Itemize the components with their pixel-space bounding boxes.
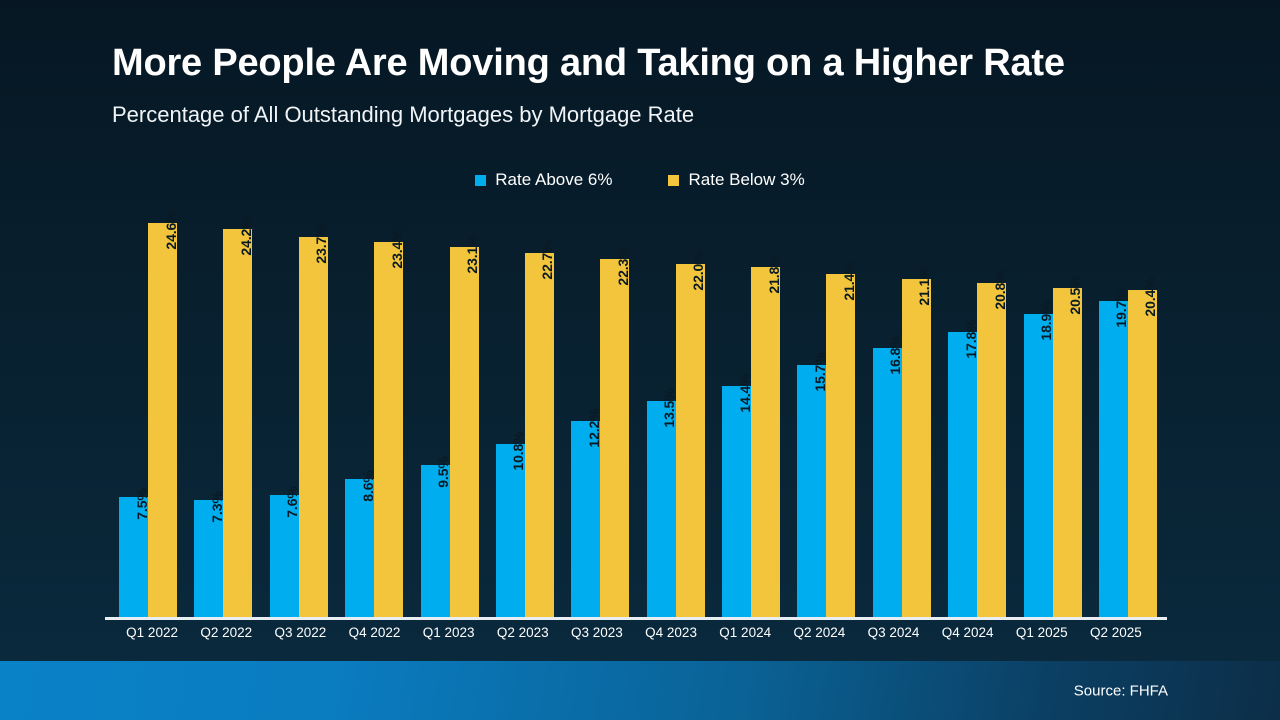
source-attribution: Source: FHFA [1074,682,1168,699]
bar[interactable]: 7.5% [119,497,148,617]
bar-group: 15.7%21.4% [797,200,855,617]
bar-value-label: 21.8% [766,255,782,294]
bar-group: 19.7%20.4% [1099,200,1157,617]
x-axis-tick-label: Q4 2022 [337,625,411,640]
bar[interactable]: 24.6% [148,223,177,618]
bar-value-label: 24.2% [238,216,254,255]
bar[interactable]: 16.8% [873,348,902,617]
bar-value-label: 20.4% [1142,277,1158,316]
bar-group: 7.5%24.6% [119,200,177,617]
bar[interactable]: 20.8% [977,283,1006,617]
bar-group: 8.6%23.4% [345,200,403,617]
chart-legend: Rate Above 6%Rate Below 3% [0,170,1280,190]
x-axis-tick-label: Q1 2022 [115,625,189,640]
page-title: More People Are Moving and Taking on a H… [112,42,1192,86]
bar-value-label: 20.5% [1067,276,1083,315]
chart-plot-area: 7.5%24.6%7.3%24.2%7.6%23.7%8.6%23.4%9.5%… [105,200,1167,620]
x-axis-tick-label: Q4 2023 [634,625,708,640]
bar[interactable]: 21.4% [826,274,855,617]
bar-value-label: 24.6% [163,210,179,249]
slide-canvas: More People Are Moving and Taking on a H… [0,0,1280,720]
bar-group: 7.3%24.2% [194,200,252,617]
bar-group: 13.5%22.0% [647,200,705,617]
bar-group: 10.8%22.7% [496,200,554,617]
bar[interactable]: 19.7% [1099,301,1128,617]
bar[interactable]: 23.7% [299,237,328,617]
bar[interactable]: 9.5% [421,465,450,617]
bar[interactable]: 15.7% [797,365,826,617]
bar[interactable]: 7.3% [194,500,223,617]
bar[interactable]: 13.5% [647,401,676,618]
x-axis-tick-label: Q4 2024 [931,625,1005,640]
bar[interactable]: 7.6% [270,495,299,617]
x-axis-tick-label: Q3 2022 [263,625,337,640]
bar[interactable]: 22.0% [676,264,705,617]
header: More People Are Moving and Taking on a H… [112,42,1192,128]
bar[interactable]: 14.4% [722,386,751,617]
legend-item[interactable]: Rate Below 3% [668,170,804,190]
bar[interactable]: 21.8% [751,267,780,617]
bar[interactable]: 8.6% [345,479,374,617]
x-axis-tick-label: Q3 2024 [856,625,930,640]
bar-value-label: 23.4% [389,229,405,268]
bar[interactable]: 17.8% [948,332,977,618]
x-axis-tick-label: Q3 2023 [560,625,634,640]
x-axis-tick-label: Q2 2023 [486,625,560,640]
bar[interactable]: 23.1% [450,247,479,618]
bar[interactable]: 20.5% [1053,288,1082,617]
bar-value-label: 20.8% [992,271,1008,310]
bar-group: 17.8%20.8% [948,200,1006,617]
bar-group: 14.4%21.8% [722,200,780,617]
x-axis-tick-label: Q1 2023 [412,625,486,640]
x-axis-tick-label: Q1 2024 [708,625,782,640]
bar-group: 16.8%21.1% [873,200,931,617]
bar-group: 12.2%22.3% [571,200,629,617]
bar-value-label: 23.7% [313,224,329,263]
bar[interactable]: 21.1% [902,279,931,617]
bar[interactable]: 18.9% [1024,314,1053,617]
bar[interactable]: 22.3% [600,259,629,617]
bar[interactable]: 24.2% [223,229,252,617]
bar[interactable]: 22.7% [525,253,554,617]
x-axis-line [105,617,1167,620]
bar[interactable]: 20.4% [1128,290,1157,617]
page-subtitle: Percentage of All Outstanding Mortgages … [112,86,1192,128]
footer-bar: Source: FHFA [0,661,1280,720]
bar-group: 18.9%20.5% [1024,200,1082,617]
legend-item[interactable]: Rate Above 6% [475,170,612,190]
bar-group: 7.6%23.7% [270,200,328,617]
bar-value-label: 21.1% [916,266,932,305]
bar-value-label: 22.3% [615,247,631,286]
bar-value-label: 22.7% [539,240,555,279]
legend-item-label: Rate Below 3% [688,170,804,190]
x-axis-tick-label: Q2 2024 [782,625,856,640]
bar-groups: 7.5%24.6%7.3%24.2%7.6%23.7%8.6%23.4%9.5%… [119,200,1157,617]
bar-value-label: 23.1% [464,234,480,273]
bar-group: 9.5%23.1% [421,200,479,617]
bar[interactable]: 23.4% [374,242,403,617]
bar[interactable]: 12.2% [571,421,600,617]
legend-item-label: Rate Above 6% [495,170,612,190]
x-axis-tick-label: Q2 2022 [189,625,263,640]
x-axis-tick-label: Q1 2025 [1005,625,1079,640]
x-axis-labels: Q1 2022Q2 2022Q3 2022Q4 2022Q1 2023Q2 20… [105,625,1167,640]
legend-swatch-icon [668,175,679,186]
x-axis-tick-label: Q2 2025 [1079,625,1153,640]
bar[interactable]: 10.8% [496,444,525,617]
bar-value-label: 22.0% [690,252,706,291]
legend-swatch-icon [475,175,486,186]
bar-value-label: 21.4% [841,261,857,300]
